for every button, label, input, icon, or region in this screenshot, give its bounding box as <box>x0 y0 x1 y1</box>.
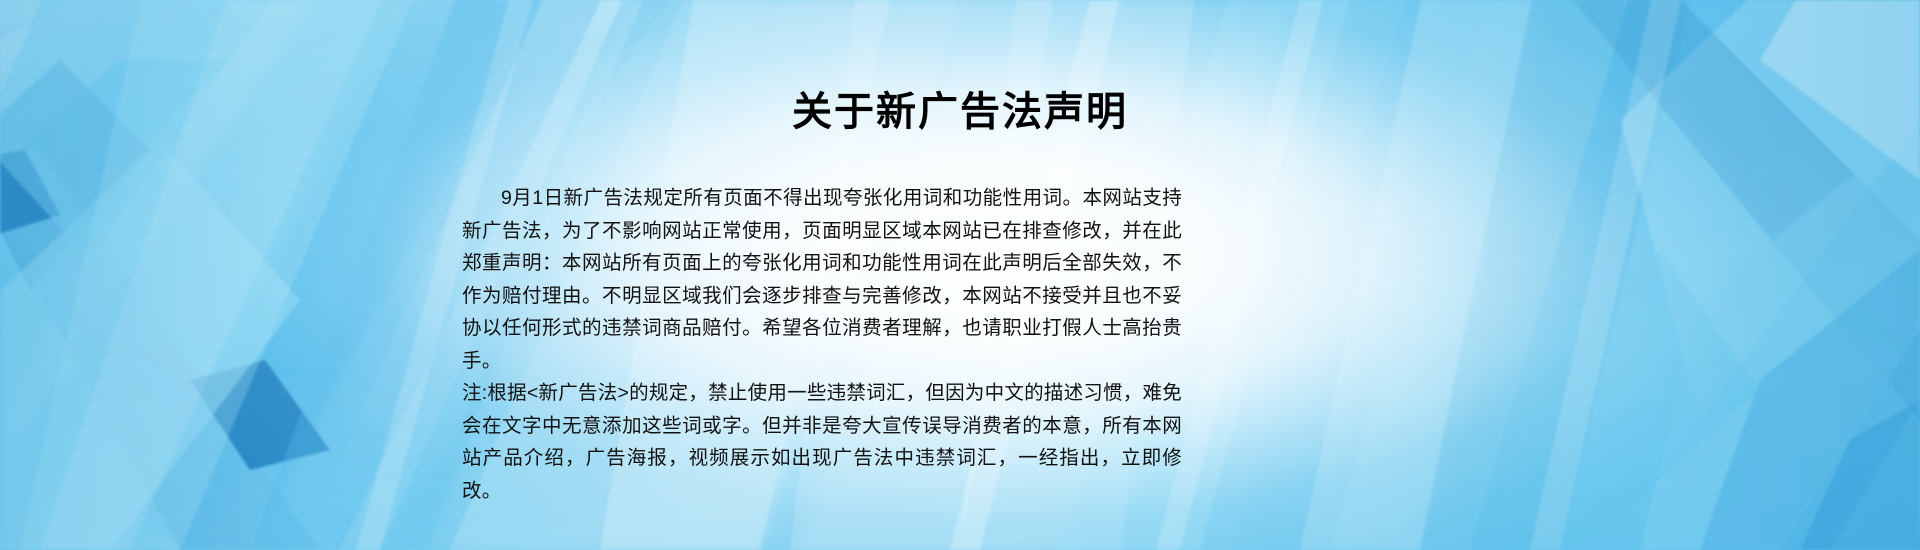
statement-paragraph-main: 9月1日新广告法规定所有页面不得出现夸张化用词和功能性用词。本网站支持新广告法，… <box>462 182 1182 377</box>
statement-content: 关于新广告法声明 9月1日新广告法规定所有页面不得出现夸张化用词和功能性用词。本… <box>0 0 1920 550</box>
statement-body: 9月1日新广告法规定所有页面不得出现夸张化用词和功能性用词。本网站支持新广告法，… <box>462 182 1182 507</box>
page-title: 关于新广告法声明 <box>0 88 1920 136</box>
statement-paragraph-note: 注:根据<新广告法>的规定，禁止使用一些违禁词汇，但因为中文的描述习惯，难免会在… <box>462 377 1182 507</box>
advertising-law-statement-banner: 关于新广告法声明 9月1日新广告法规定所有页面不得出现夸张化用词和功能性用词。本… <box>0 0 1920 550</box>
